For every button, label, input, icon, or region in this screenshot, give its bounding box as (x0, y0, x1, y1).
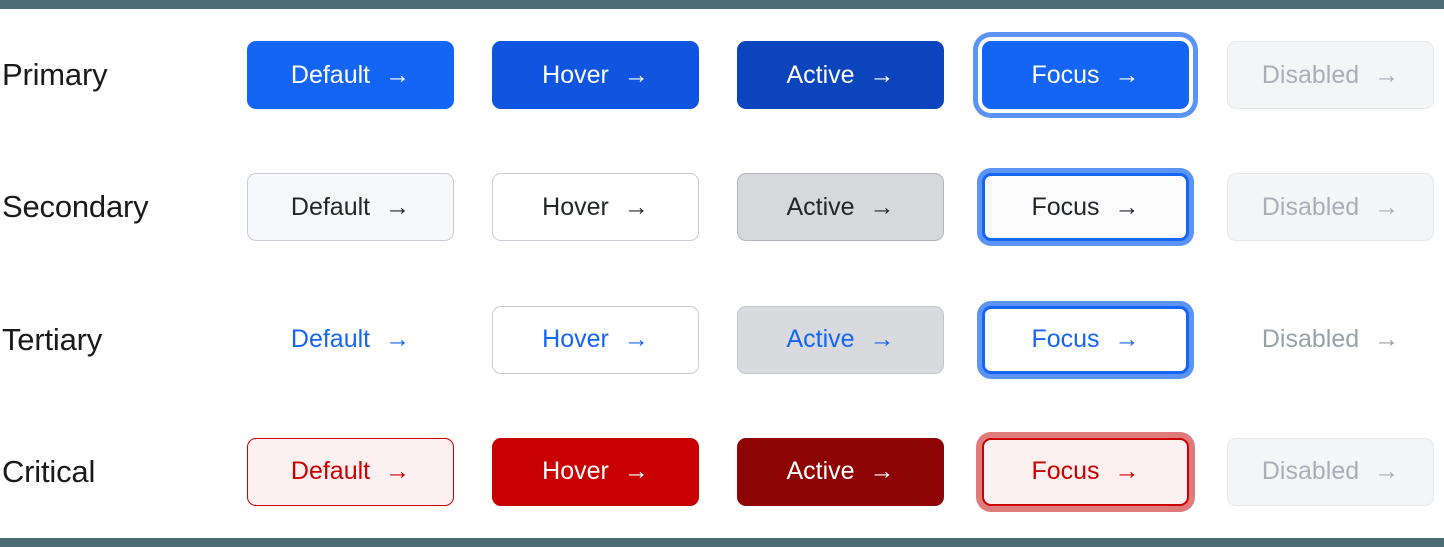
button-primary-default[interactable]: Default → (247, 41, 454, 109)
cell-tertiary-disabled: Disabled → (1227, 306, 1444, 374)
button-primary-focus[interactable]: Focus → (982, 41, 1189, 109)
button-tertiary-default[interactable]: Default → (247, 306, 454, 374)
button-tertiary-active[interactable]: Active → (737, 306, 944, 374)
button-label: Active (786, 459, 854, 484)
cell-primary-disabled: Disabled → (1227, 41, 1444, 109)
button-tertiary-disabled: Disabled → (1227, 306, 1434, 374)
cell-tertiary-focus: Focus → (982, 306, 1227, 374)
button-critical-hover[interactable]: Hover → (492, 438, 699, 506)
cell-secondary-default: Default → (247, 173, 492, 241)
arrow-right-icon: → (385, 327, 410, 352)
button-label: Default (291, 63, 370, 88)
button-secondary-focus[interactable]: Focus → (982, 173, 1189, 241)
button-secondary-disabled: Disabled → (1227, 173, 1434, 241)
arrow-right-icon: → (870, 327, 895, 352)
cell-secondary-hover: Hover → (492, 173, 737, 241)
button-label: Disabled (1262, 63, 1359, 88)
button-label: Hover (542, 327, 609, 352)
button-critical-focus[interactable]: Focus → (982, 438, 1189, 506)
row-label-secondary: Secondary (0, 189, 247, 225)
button-label: Default (291, 195, 370, 220)
row-label-tertiary: Tertiary (0, 322, 247, 358)
arrow-right-icon: → (1374, 327, 1399, 352)
arrow-right-icon: → (385, 195, 410, 220)
button-secondary-default[interactable]: Default → (247, 173, 454, 241)
arrow-right-icon: → (1374, 195, 1399, 220)
arrow-right-icon: → (1374, 459, 1399, 484)
button-label: Disabled (1262, 327, 1359, 352)
cell-primary-active: Active → (737, 41, 982, 109)
button-label: Active (786, 327, 854, 352)
arrow-right-icon: → (1115, 459, 1140, 484)
button-label: Hover (542, 195, 609, 220)
cell-secondary-active: Active → (737, 173, 982, 241)
arrow-right-icon: → (1115, 195, 1140, 220)
cell-critical-hover: Hover → (492, 438, 737, 506)
button-state-matrix: Primary Default → Hover → Active → Focus… (0, 9, 1444, 538)
cell-primary-hover: Hover → (492, 41, 737, 109)
button-label: Focus (1031, 459, 1099, 484)
arrow-right-icon: → (1374, 63, 1399, 88)
button-label: Focus (1031, 63, 1099, 88)
arrow-right-icon: → (624, 63, 649, 88)
arrow-right-icon: → (385, 459, 410, 484)
cell-critical-focus: Focus → (982, 438, 1227, 506)
button-label: Hover (542, 459, 609, 484)
cell-primary-default: Default → (247, 41, 492, 109)
button-primary-active[interactable]: Active → (737, 41, 944, 109)
button-label: Active (786, 195, 854, 220)
button-tertiary-focus[interactable]: Focus → (982, 306, 1189, 374)
button-label: Hover (542, 63, 609, 88)
cell-critical-disabled: Disabled → (1227, 438, 1444, 506)
arrow-right-icon: → (870, 63, 895, 88)
arrow-right-icon: → (870, 195, 895, 220)
button-label: Disabled (1262, 459, 1359, 484)
top-edge-bar (0, 0, 1444, 9)
cell-critical-active: Active → (737, 438, 982, 506)
cell-critical-default: Default → (247, 438, 492, 506)
row-label-primary: Primary (0, 57, 247, 93)
button-tertiary-hover[interactable]: Hover → (492, 306, 699, 374)
button-label: Default (291, 327, 370, 352)
arrow-right-icon: → (1115, 327, 1140, 352)
button-primary-hover[interactable]: Hover → (492, 41, 699, 109)
arrow-right-icon: → (624, 195, 649, 220)
button-critical-active[interactable]: Active → (737, 438, 944, 506)
arrow-right-icon: → (870, 459, 895, 484)
button-label: Focus (1031, 195, 1099, 220)
button-secondary-hover[interactable]: Hover → (492, 173, 699, 241)
button-label: Default (291, 459, 370, 484)
button-label: Active (786, 63, 854, 88)
cell-secondary-disabled: Disabled → (1227, 173, 1444, 241)
arrow-right-icon: → (624, 327, 649, 352)
cell-tertiary-default: Default → (247, 306, 492, 374)
cell-tertiary-hover: Hover → (492, 306, 737, 374)
cell-tertiary-active: Active → (737, 306, 982, 374)
cell-secondary-focus: Focus → (982, 173, 1227, 241)
button-secondary-active[interactable]: Active → (737, 173, 944, 241)
row-label-critical: Critical (0, 454, 247, 490)
cell-primary-focus: Focus → (982, 41, 1227, 109)
button-label: Disabled (1262, 195, 1359, 220)
button-primary-disabled: Disabled → (1227, 41, 1434, 109)
button-critical-default[interactable]: Default → (247, 438, 454, 506)
arrow-right-icon: → (624, 459, 649, 484)
arrow-right-icon: → (1115, 63, 1140, 88)
button-label: Focus (1031, 327, 1099, 352)
bottom-edge-bar (0, 538, 1444, 547)
button-critical-disabled: Disabled → (1227, 438, 1434, 506)
arrow-right-icon: → (385, 63, 410, 88)
